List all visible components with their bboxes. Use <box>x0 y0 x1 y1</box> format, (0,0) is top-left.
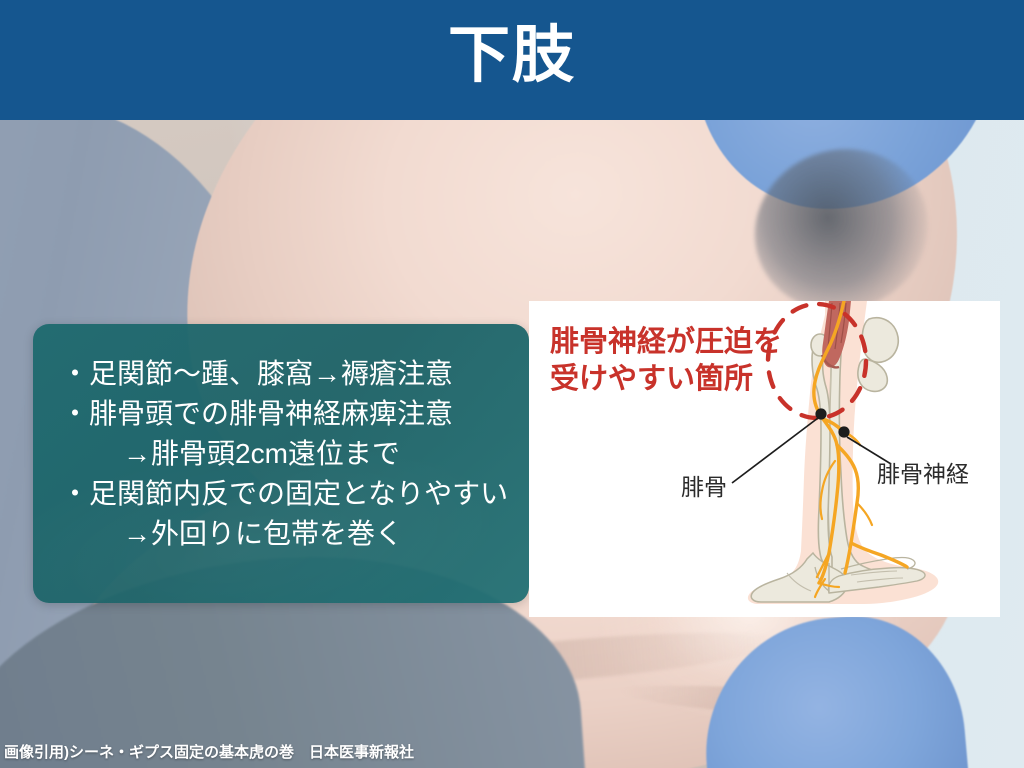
list-item: →腓骨頭2cm遠位まで <box>61 434 511 474</box>
list-item: ・足関節〜踵、膝窩→褥瘡注意 <box>61 354 511 394</box>
title-bar: 下肢 <box>0 0 1024 120</box>
list-item: →外回りに包帯を巻く <box>61 514 511 554</box>
list-item: ・足関節内反での固定となりやすい <box>61 474 511 514</box>
bullet-panel: ・足関節〜踵、膝窩→褥瘡注意 ・腓骨頭での腓骨神経麻痺注意 →腓骨頭2cm遠位ま… <box>33 324 529 603</box>
illustration-headline: 腓骨神経が圧迫を 受けやすい箇所 <box>550 324 782 395</box>
list-item: ・腓骨頭での腓骨神経麻痺注意 <box>61 394 511 434</box>
peroneal-nerve-marker-dot <box>838 426 849 437</box>
peroneal-nerve-label: 腓骨神経 <box>877 461 969 487</box>
bullet-list: ・足関節〜踵、膝窩→褥瘡注意 ・腓骨頭での腓骨神経麻痺注意 →腓骨頭2cm遠位ま… <box>33 324 529 554</box>
slide: 下肢 ・足関節〜踵、膝窩→褥瘡注意 ・腓骨頭での腓骨神経麻痺注意 →腓骨頭2cm… <box>0 0 1024 768</box>
knee-bone-detail <box>858 318 898 392</box>
page-title: 下肢 <box>0 0 1024 120</box>
headline-line-1: 腓骨神経が圧迫を <box>550 324 782 358</box>
illustration-card: 腓骨神経が圧迫を 受けやすい箇所 腓骨 腓骨神経 <box>529 301 1000 617</box>
headline-line-2: 受けやすい箇所 <box>550 361 753 395</box>
source-caption: 画像引用)シーネ・ギプス固定の基本虎の巻 日本医事新報社 <box>4 741 414 762</box>
fibula-label: 腓骨 <box>681 474 727 500</box>
leg-anatomy-illustration: 腓骨神経が圧迫を 受けやすい箇所 腓骨 腓骨神経 <box>529 301 1000 617</box>
